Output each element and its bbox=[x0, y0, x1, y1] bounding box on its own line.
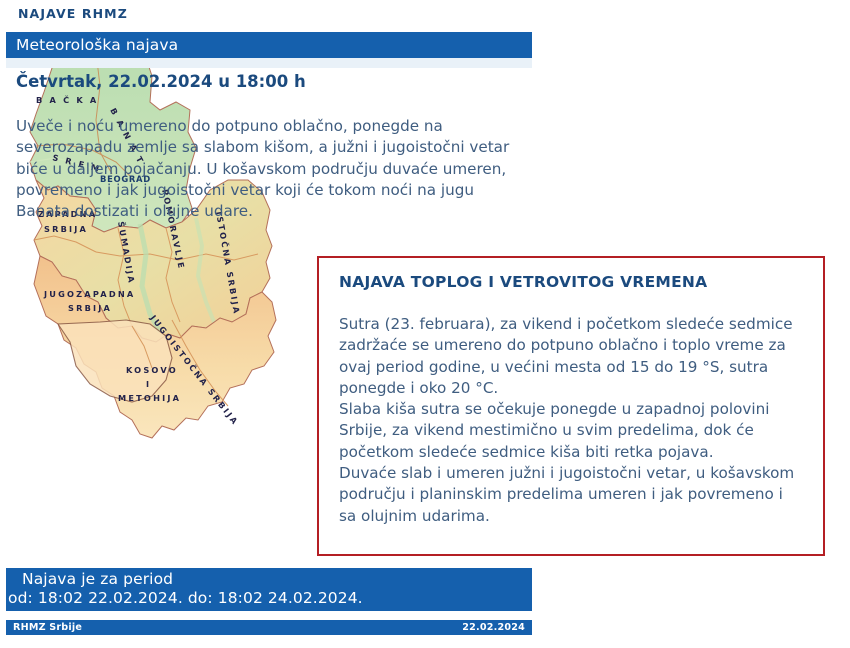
map-label-jugozapadna-srbija-2: SRBIJA bbox=[68, 303, 112, 313]
map-label-jugozapadna-srbija-1: JUGOZAPADNA bbox=[43, 289, 135, 299]
warning-box: NAJAVA TOPLOG I VETROVITOG VREMENA Sutra… bbox=[317, 256, 825, 556]
map-label-backa: B A Č K A bbox=[36, 94, 98, 105]
map-label-kosovo-3: METOHIJA bbox=[118, 393, 181, 403]
footer-date: 22.02.2024 bbox=[462, 622, 525, 633]
map-label-kosovo-2: I bbox=[146, 379, 151, 389]
map-label-zapadna-srbija-2: SRBIJA bbox=[44, 224, 88, 234]
warning-paragraph: Slaba kiša sutra se očekuje ponegde u za… bbox=[339, 399, 801, 463]
lead-forecast-text: Uveče i noću umereno do potpuno oblačno,… bbox=[16, 116, 528, 222]
validity-period-range: od: 18:02 22.02.2024. do: 18:02 24.02.20… bbox=[8, 589, 532, 608]
footer-bar: RHMZ Srbije 22.02.2024 bbox=[6, 620, 532, 635]
announcement-date: Četvrtak, 22.02.2024 u 18:00 h bbox=[16, 72, 526, 91]
panel-header: Meteorološka najava bbox=[6, 32, 532, 60]
warning-paragraph: Sutra (23. februara), za vikend i početk… bbox=[339, 314, 801, 399]
warning-body: Sutra (23. februara), za vikend i početk… bbox=[339, 314, 801, 527]
map-label-kosovo-1: KOSOVO bbox=[126, 365, 178, 375]
serbia-map: B A Č K A B A N A T S R E M BEOGRAD ZAPA… bbox=[0, 40, 310, 520]
header-underline-strip bbox=[6, 58, 532, 68]
warning-paragraph: Duvaće slab i umeren južni i jugoistočni… bbox=[339, 463, 801, 527]
validity-period-label: Najava je za period bbox=[14, 570, 532, 589]
page-title: NAJAVE RHMZ bbox=[18, 6, 128, 21]
validity-period-bar: Najava je za period od: 18:02 22.02.2024… bbox=[6, 568, 532, 611]
footer-source: RHMZ Srbije bbox=[13, 622, 82, 633]
warning-title: NAJAVA TOPLOG I VETROVITOG VREMENA bbox=[339, 273, 707, 291]
